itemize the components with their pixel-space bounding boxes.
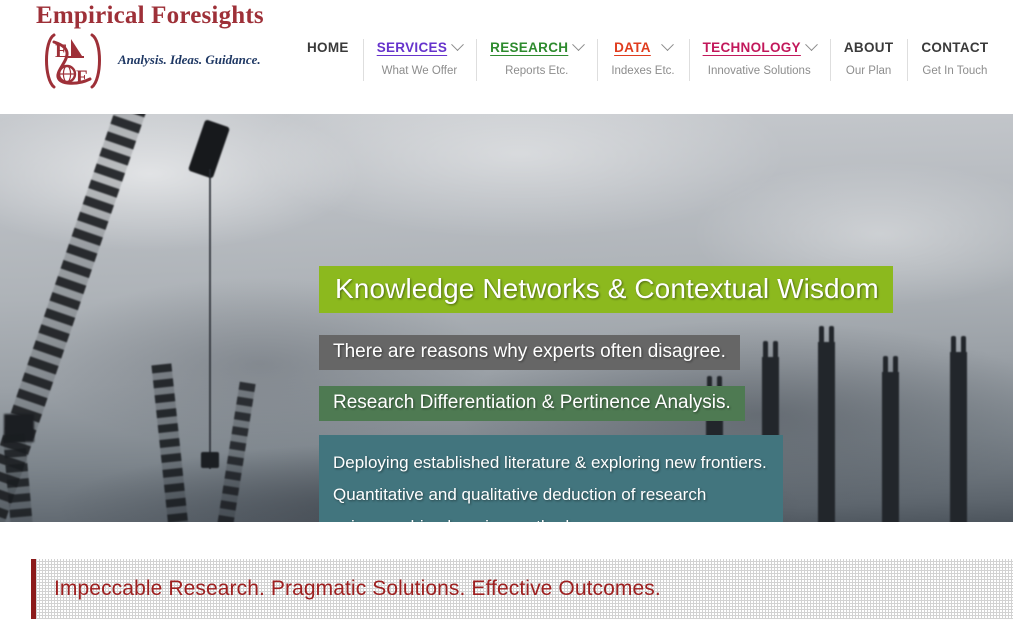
hero-paragraph-block: Deploying established literature & explo… — [319, 435, 783, 522]
nav-sub-contact: Get In Touch — [922, 65, 987, 77]
chevron-down-icon[interactable] — [805, 38, 818, 51]
nav-label-contact: CONTACT — [921, 40, 988, 55]
svg-text:E: E — [55, 41, 68, 62]
brand-tagline: Analysis. Ideas. Guidance. — [118, 52, 261, 68]
chevron-down-icon[interactable] — [572, 38, 585, 51]
crane-mast-graphic — [818, 342, 835, 522]
hero-headline: Knowledge Networks & Contextual Wisdom — [319, 266, 893, 313]
site-header: Empirical Foresights E F — [0, 0, 1013, 114]
nav-sub-research: Reports Etc. — [505, 65, 568, 77]
hero-paragraph-line: Quantitative and qualitative deduction o… — [333, 479, 767, 511]
tagline-text: Impeccable Research. Pragmatic Solutions… — [54, 577, 661, 601]
nav-sub-services: What We Offer — [382, 65, 458, 77]
ef-globe-sail-logo-icon: E F — [38, 29, 104, 93]
chevron-down-icon[interactable] — [451, 38, 464, 51]
nav-item-technology[interactable]: TECHNOLOGY Innovative Solutions — [689, 38, 830, 82]
nav-item-research[interactable]: RESEARCH Reports Etc. — [476, 38, 597, 82]
hero-banner: Knowledge Networks & Contextual Wisdom T… — [0, 114, 1013, 522]
main-navigation: HOME SERVICES What We Offer RESEARCH Rep… — [293, 38, 1002, 86]
crane-mast-graphic — [882, 372, 899, 522]
crane-hook-graphic — [201, 452, 219, 468]
nav-item-about[interactable]: ABOUT Our Plan — [830, 38, 908, 82]
brand-title: Empirical Foresights — [36, 2, 264, 30]
hero-paragraph-line: using machine learning methods. — [333, 511, 767, 522]
svg-text:F: F — [76, 67, 88, 88]
crane-cable-graphic — [209, 169, 211, 469]
tagline-section: Impeccable Research. Pragmatic Solutions… — [0, 559, 1013, 619]
nav-label-services: SERVICES — [377, 40, 447, 55]
hero-subhead-2: Research Differentiation & Pertinence An… — [319, 386, 745, 421]
nav-label-data: DATA — [614, 40, 651, 55]
chevron-down-icon[interactable] — [661, 38, 674, 51]
nav-sub-data: Indexes Etc. — [611, 65, 674, 77]
brand-logo-block[interactable]: Empirical Foresights E F — [0, 0, 290, 110]
nav-label-technology: TECHNOLOGY — [703, 40, 801, 55]
tagline-bar: Impeccable Research. Pragmatic Solutions… — [31, 559, 1013, 619]
nav-label-research: RESEARCH — [490, 40, 568, 55]
nav-label-home: HOME — [307, 40, 349, 55]
nav-label-about: ABOUT — [844, 40, 894, 55]
nav-item-data[interactable]: DATA Indexes Etc. — [597, 38, 688, 82]
crane-mast-graphic — [950, 352, 967, 522]
nav-sub-about: Our Plan — [846, 65, 891, 77]
nav-item-home[interactable]: HOME — [293, 38, 363, 82]
hero-subhead-1: There are reasons why experts often disa… — [319, 335, 740, 370]
nav-sub-technology: Innovative Solutions — [708, 65, 811, 77]
nav-item-contact[interactable]: CONTACT Get In Touch — [907, 38, 1002, 82]
nav-item-services[interactable]: SERVICES What We Offer — [363, 38, 476, 82]
section-spacer — [0, 522, 1013, 559]
hero-paragraph-line: Deploying established literature & explo… — [333, 447, 767, 479]
